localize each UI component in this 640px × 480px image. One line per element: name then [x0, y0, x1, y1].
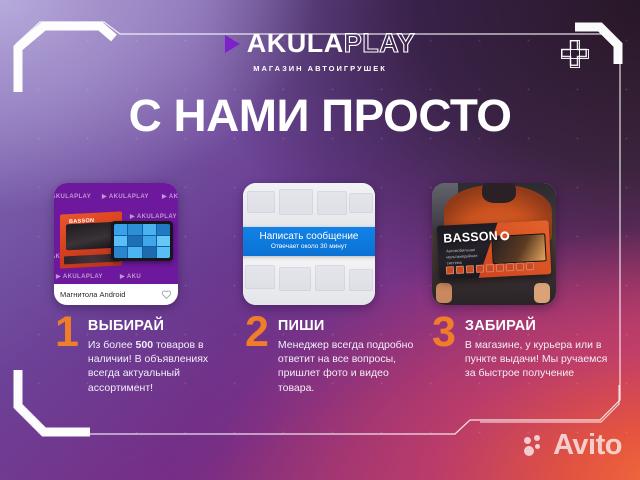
cards-row: ▶ AKULAPLAY ▶ AKULAPLAY ▶ AK ▶ AKULAPLAY…: [0, 183, 640, 305]
message-banner[interactable]: Написать сообщение Отвечает около 30 мин…: [243, 227, 375, 256]
package-brand-text: BASSON: [443, 229, 498, 246]
brand-wordmark: AKULAPLAY: [247, 30, 416, 57]
avito-watermark: Avito: [524, 431, 622, 460]
play-triangle-icon: [225, 35, 240, 53]
step-body: ВЫБИРАЙ Из более 500 товаров в наличии! …: [88, 318, 235, 395]
step-item: 1 ВЫБИРАЙ Из более 500 товаров в наличии…: [55, 318, 235, 395]
card-pickup[interactable]: BASSON Автомобильная мультимедийная сист…: [432, 183, 556, 305]
step-description: Из более 500 товаров в наличии! В объявл…: [88, 338, 235, 395]
avito-dots-icon: [524, 435, 548, 457]
step-body: ПИШИ Менеджер всегда подробно ответит на…: [278, 318, 420, 395]
step-desc-a: В магазине, у курьера или в пункте выдач…: [465, 339, 607, 380]
step-title: ПИШИ: [278, 319, 420, 335]
head-unit-screen: [114, 224, 170, 258]
hand-right: [534, 283, 550, 303]
step-desc-a: Из более: [88, 339, 136, 351]
step-number: 3: [432, 315, 456, 381]
brand-name-solid: AKULA: [247, 28, 344, 58]
brand-logo: AKULAPLAY: [225, 30, 416, 57]
step-number: 2: [245, 315, 269, 395]
card-listing[interactable]: ▶ AKULAPLAY ▶ AKULAPLAY ▶ AK ▶ AKULAPLAY…: [54, 183, 178, 305]
step-desc-highlight: 500: [136, 339, 154, 351]
heart-icon[interactable]: [161, 289, 172, 300]
card-message[interactable]: Написать сообщение Отвечает около 30 мин…: [243, 183, 375, 305]
step-body: ЗАБИРАЙ В магазине, у курьера или в пунк…: [465, 318, 612, 381]
brand-tagline: МАГАЗИН АВТОИГРУШЕК: [253, 64, 387, 73]
step-desc-a: Менеджер всегда подробно ответит на все …: [278, 339, 413, 394]
hand-left: [436, 283, 452, 303]
card-listing-photo: BASSON: [58, 209, 174, 271]
brand-header: AKULAPLAY МАГАЗИН АВТОИГРУШЕК: [0, 30, 640, 73]
step-title: ВЫБИРАЙ: [88, 319, 235, 335]
message-banner-subtitle: Отвечает около 30 минут: [271, 243, 347, 251]
person-head: [482, 183, 516, 203]
banner-canvas: AKULAPLAY МАГАЗИН АВТОИГРУШЕК С НАМИ ПРО…: [0, 0, 640, 480]
step-number: 1: [55, 315, 79, 395]
listing-title: Магнитола Android: [60, 290, 125, 299]
brand-name-outline: PLAY: [344, 28, 416, 58]
avito-label: Avito: [553, 431, 622, 460]
product-package: BASSON Автомобильная мультимедийная сист…: [437, 220, 552, 280]
page-title: С НАМИ ПРОСТО: [0, 93, 640, 138]
package-brand-dot-icon: [500, 231, 509, 240]
message-banner-title: Написать сообщение: [259, 231, 358, 242]
product-head-unit: [111, 221, 173, 261]
step-item: 2 ПИШИ Менеджер всегда подробно ответит …: [245, 318, 420, 395]
step-item: 3 ЗАБИРАЙ В магазине, у курьера или в пу…: [432, 318, 612, 381]
card-listing-footer: Магнитола Android: [54, 284, 178, 305]
wm: AKULAPLAY: [54, 194, 91, 200]
step-description: Менеджер всегда подробно ответит на все …: [278, 338, 420, 395]
step-title: ЗАБИРАЙ: [465, 319, 612, 335]
step-description: В магазине, у курьера или в пункте выдач…: [465, 338, 612, 381]
